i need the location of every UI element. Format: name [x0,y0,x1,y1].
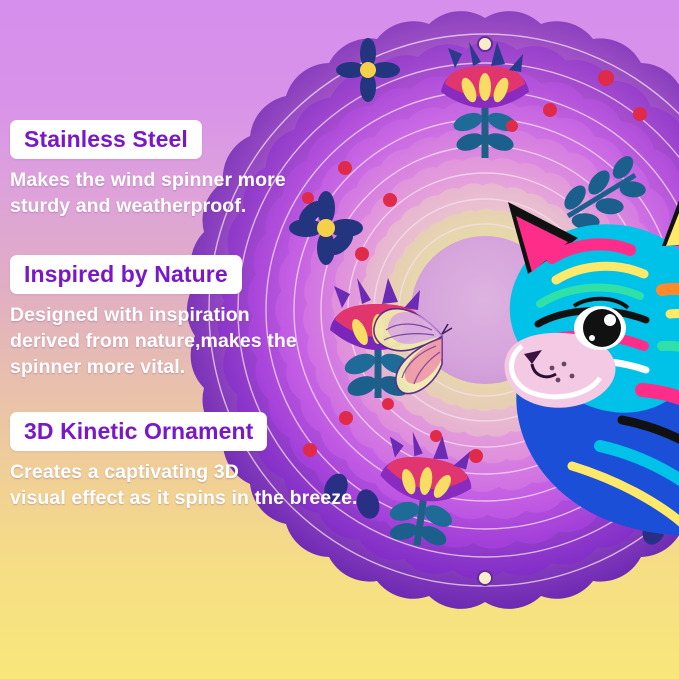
feature-badge-3d-kinetic-ornament: 3D Kinetic Ornament [10,412,267,451]
feature-block-stainless-steel: Stainless Steel Makes the wind spinner m… [10,120,286,220]
feature-description-inspired-by-nature: Designed with inspiration derived from n… [10,303,297,381]
feature-badge-stainless-steel: Stainless Steel [10,120,202,159]
feature-description-3d-kinetic-ornament: Creates a captivating 3D visual effect a… [10,460,358,512]
feature-badge-inspired-by-nature: Inspired by Nature [10,255,242,294]
cat-wind-spinner-image [250,18,679,603]
feature-block-inspired-by-nature: Inspired by Nature Designed with inspira… [10,255,297,381]
feature-description-stainless-steel: Makes the wind spinner more sturdy and w… [10,168,286,220]
product-feature-poster: Stainless Steel Makes the wind spinner m… [0,0,679,679]
feature-block-3d-kinetic-ornament: 3D Kinetic Ornament Creates a captivatin… [10,412,358,512]
